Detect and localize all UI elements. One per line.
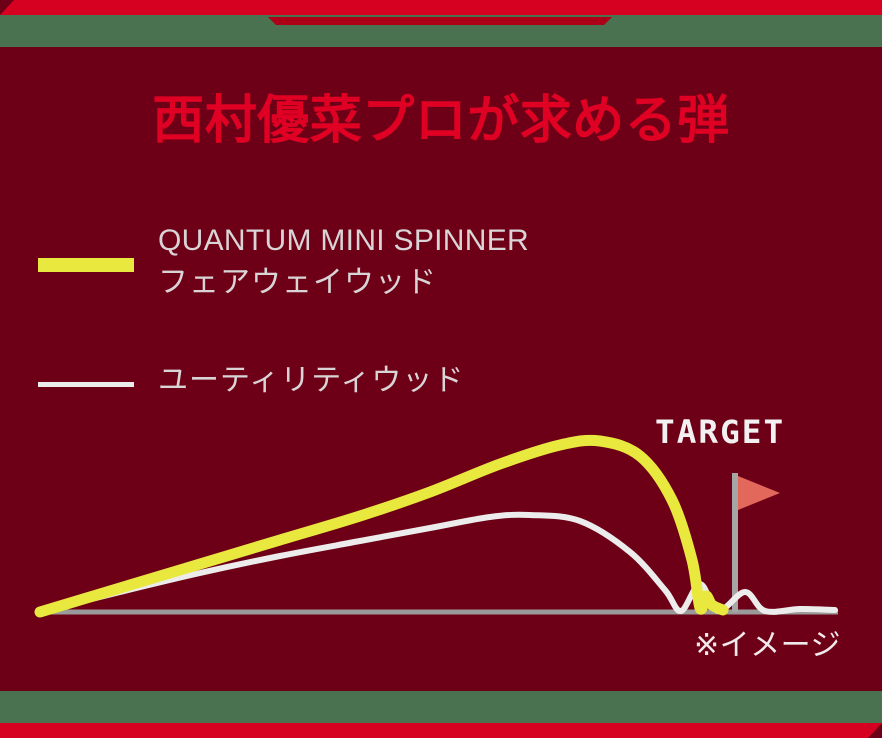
legend-label-line2: フェアウェイウッド	[158, 262, 529, 304]
fairway-wood-trajectory-line	[40, 440, 723, 612]
top-red-edge-bar	[0, 0, 882, 15]
image-disclaimer-note: ※イメージ	[694, 620, 841, 664]
legend-swatch-wrap	[38, 360, 158, 387]
legend-label-line1: QUANTUM MINI SPINNER	[158, 220, 529, 262]
legend-item-label-group: ユーティリティウッド	[158, 360, 464, 402]
legend-item-utility-wood: ユーティリティウッド	[38, 360, 529, 402]
chart-legend: QUANTUM MINI SPINNER フェアウェイウッド ユーティリティウッ…	[38, 220, 529, 402]
page-title: 西村優菜プロが求める弾	[0, 95, 882, 147]
trajectory-infographic: 西村優菜プロが求める弾 QUANTUM MINI SPINNER フェアウェイウ…	[0, 0, 882, 738]
legend-swatch-wrap	[38, 220, 158, 272]
utility-wood-trajectory-line	[40, 515, 835, 612]
bottom-red-edge-bar	[0, 723, 882, 738]
white-line-swatch-icon	[38, 382, 134, 387]
top-inner-red-bar	[268, 17, 612, 25]
yellow-line-swatch-icon	[38, 258, 134, 272]
legend-item-fairway-wood: QUANTUM MINI SPINNER フェアウェイウッド	[38, 220, 529, 304]
trajectory-chart	[0, 400, 882, 630]
flag-cloth-icon	[738, 476, 780, 510]
legend-item-label-group: QUANTUM MINI SPINNER フェアウェイウッド	[158, 220, 529, 304]
legend-label-line1: ユーティリティウッド	[158, 360, 464, 402]
bottom-green-band	[0, 691, 882, 723]
